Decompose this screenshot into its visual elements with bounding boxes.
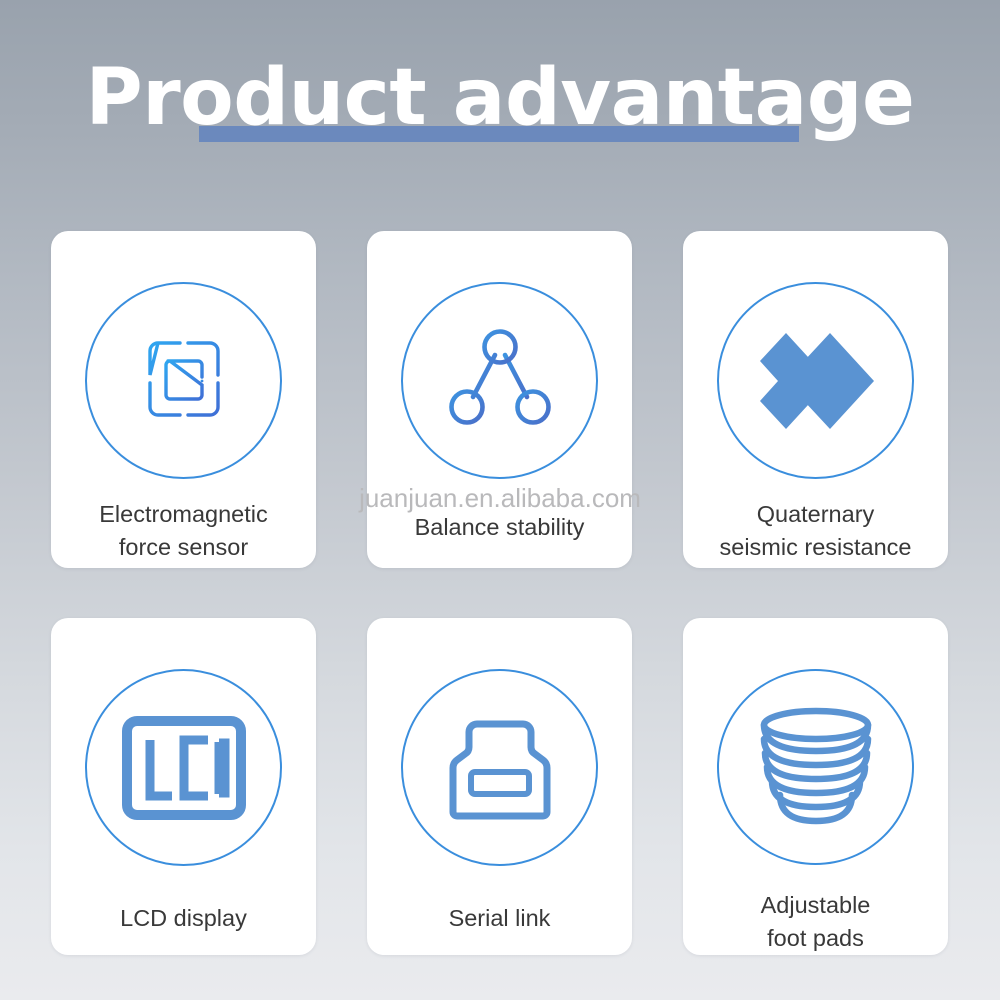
double-chevron-icon [756, 323, 876, 439]
icon-ring [401, 669, 598, 866]
card-label: LCD display [64, 902, 304, 935]
card-label: Serial link [380, 902, 620, 935]
card-label: Quaternary seismic resistance [696, 498, 936, 564]
screw-thread-icon [750, 705, 882, 829]
icon-ring [85, 669, 282, 866]
advantage-card-quaternary-seismic-resistance[interactable]: Quaternary seismic resistance [683, 231, 948, 568]
icon-ring [717, 282, 914, 479]
chip-icon [124, 321, 244, 441]
page-title: Product advantage [0, 46, 1000, 150]
advantage-card-serial-link[interactable]: Serial link [367, 618, 632, 955]
advantage-card-balance-stability[interactable]: Balance stability [367, 231, 632, 568]
lcd-screen-icon [122, 716, 246, 820]
advantage-card-grid: Electromagnetic force sensor [51, 231, 949, 955]
advantage-card-adjustable-foot-pads[interactable]: Adjustable foot pads [683, 618, 948, 955]
icon-ring [717, 669, 914, 865]
triangle-nodes-icon [440, 321, 560, 441]
advantage-card-electromagnetic-force-sensor[interactable]: Electromagnetic force sensor [51, 231, 316, 568]
advantage-card-lcd-display[interactable]: LCD display [51, 618, 316, 955]
icon-ring [85, 282, 282, 479]
card-label: Electromagnetic force sensor [64, 498, 304, 564]
product-advantage-poster: Product advantage [0, 0, 1000, 1000]
icon-ring [401, 282, 598, 479]
serial-port-icon [431, 716, 569, 820]
page-title-block: Product advantage [0, 46, 1000, 156]
card-label: Balance stability [380, 511, 620, 544]
card-label: Adjustable foot pads [696, 889, 936, 955]
